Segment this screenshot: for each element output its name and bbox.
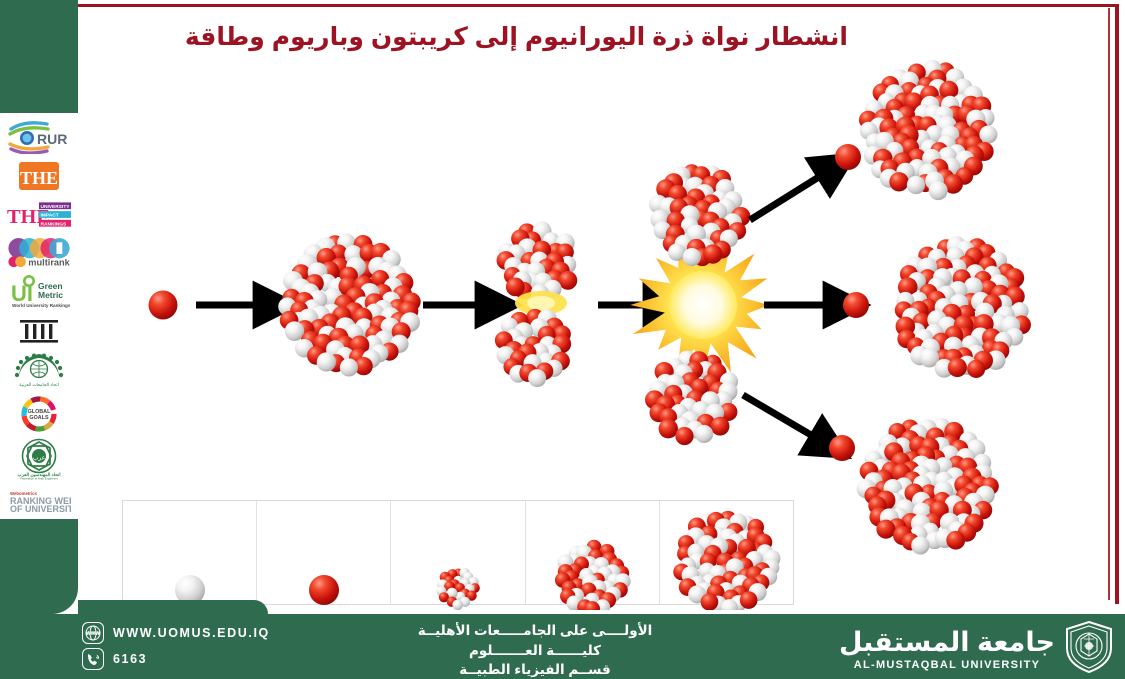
svg-text:WWW: WWW <box>86 631 100 637</box>
product-nucleus-barium <box>895 236 1031 378</box>
phone-icon <box>82 648 104 670</box>
svg-text:RUR: RUR <box>37 131 67 147</box>
contact-block: WWW WWW.UOMUS.EDU.IQ 6163 <box>82 622 270 670</box>
footer-line-1: الأولــــى على الجامـــــعات الأهليــة <box>300 621 770 641</box>
footer-line-2: كليــــــة العـــــــلوم <box>300 641 770 661</box>
particle-scale-legend <box>122 500 794 605</box>
uranium-nucleus <box>278 234 420 377</box>
product-nucleus-krypton <box>859 60 997 200</box>
sdg-global-goals-badge[interactable]: GLOBAL GOALS <box>6 393 72 435</box>
svg-text:World University Rankings: World University Rankings <box>12 303 70 308</box>
medium-nucleus-icon <box>548 526 636 610</box>
svg-text:اتحاد الجامعات العربية: اتحاد الجامعات العربية <box>19 382 59 387</box>
arrow-emit-upper <box>750 170 830 220</box>
brand-text-block: جامعة المستقبل AL-MUSTAQBAL UNIVERSITY <box>839 629 1055 671</box>
proton-sphere-icon <box>307 570 341 610</box>
svg-text:Federation of Arab Engineers: Federation of Arab Engineers <box>20 477 58 481</box>
university-brand: جامعة المستقبل AL-MUSTAQBAL UNIVERSITY <box>839 620 1115 679</box>
large-nucleus-icon <box>666 500 786 610</box>
incoming-neutron <box>149 291 178 320</box>
sidebar-green-bottom <box>0 519 78 614</box>
legend-cell-proton <box>257 501 391 604</box>
footer-bar: WWW WWW.UOMUS.EDU.IQ 6163 الأولــــى على… <box>0 614 1125 679</box>
small-nucleus-icon <box>428 550 488 610</box>
svg-text:RANKINGS: RANKINGS <box>40 221 67 227</box>
pillars-badge[interactable] <box>6 313 72 349</box>
website-text: WWW.UOMUS.EDU.IQ <box>113 626 270 640</box>
faculty-info: الأولــــى على الجامـــــعات الأهليــة ك… <box>300 621 770 679</box>
u-multirank-badge[interactable]: multirank <box>6 235 72 271</box>
phone-row[interactable]: 6163 <box>82 648 270 670</box>
footer-line-3: قســم الفيزياء الطبيــة <box>300 660 770 679</box>
federation-of-arab-engineers-badge[interactable]: عرب اتحاد المهندسين العرب Federation of … <box>6 438 72 480</box>
fission-fragment-lower <box>645 351 738 446</box>
association-of-arab-universities-badge[interactable]: اتحاد الجامعات العربية <box>6 352 72 390</box>
legend-cell-large-nucleus <box>660 501 793 604</box>
ui-greenmetric-badge[interactable]: UI Green Metric World University Ranking… <box>6 274 72 310</box>
webometrics-badge[interactable]: Webometrics RANKING WEB OF UNIVERSITIES <box>6 483 72 519</box>
shield-logo-icon <box>1063 620 1115 679</box>
fission-fragment-upper <box>649 164 750 266</box>
frame-top-border <box>78 4 1116 7</box>
slide-title: انشطار نواة ذرة اليورانيوم إلى كريبتون و… <box>88 22 848 53</box>
globe-icon: WWW <box>82 622 104 644</box>
sidebar-green-top <box>0 0 78 113</box>
svg-text:OF UNIVERSITIES: OF UNIVERSITIES <box>10 504 71 514</box>
released-neutron-1 <box>835 144 861 170</box>
excited-nucleus <box>495 222 577 388</box>
released-neutron-3 <box>829 435 855 461</box>
product-nucleus-third <box>857 418 999 555</box>
svg-text:عرب: عرب <box>33 456 46 462</box>
svg-text:Metric: Metric <box>38 290 63 300</box>
legend-cell-small-nucleus <box>391 501 525 604</box>
brand-name-arabic: جامعة المستقبل <box>839 629 1055 656</box>
arrow-emit-lower <box>743 395 823 442</box>
svg-text:IMPACT: IMPACT <box>40 212 58 218</box>
website-row[interactable]: WWW WWW.UOMUS.EDU.IQ <box>82 622 270 644</box>
legend-cell-medium-nucleus <box>526 501 660 604</box>
legend-cell-neutron <box>123 501 257 604</box>
svg-text:UNIVERSITY: UNIVERSITY <box>40 204 70 210</box>
the-university-impact-rankings-badge[interactable]: THE UNIVERSITY IMPACT RANKINGS <box>6 197 72 233</box>
phone-text: 6163 <box>113 652 147 666</box>
released-neutron-2 <box>843 292 869 318</box>
the-times-higher-education-badge[interactable]: THE <box>6 158 72 194</box>
svg-text:THE: THE <box>20 168 58 188</box>
brand-name-english: AL-MUSTAQBAL UNIVERSITY <box>839 659 1055 671</box>
svg-text:multirank: multirank <box>28 258 70 268</box>
frame-right-border <box>1115 4 1119 604</box>
frame-right-inner-border <box>1108 8 1110 600</box>
rur-ranking-badge[interactable]: RUR <box>6 119 72 155</box>
footer-notch <box>78 600 268 614</box>
svg-text:GOALS: GOALS <box>29 415 49 421</box>
slide-root: RUR THE THE UNIVERSITY IMPACT RANKINGS <box>0 0 1125 679</box>
accreditation-badge-panel: RUR THE THE UNIVERSITY IMPACT RANKINGS <box>0 113 78 519</box>
